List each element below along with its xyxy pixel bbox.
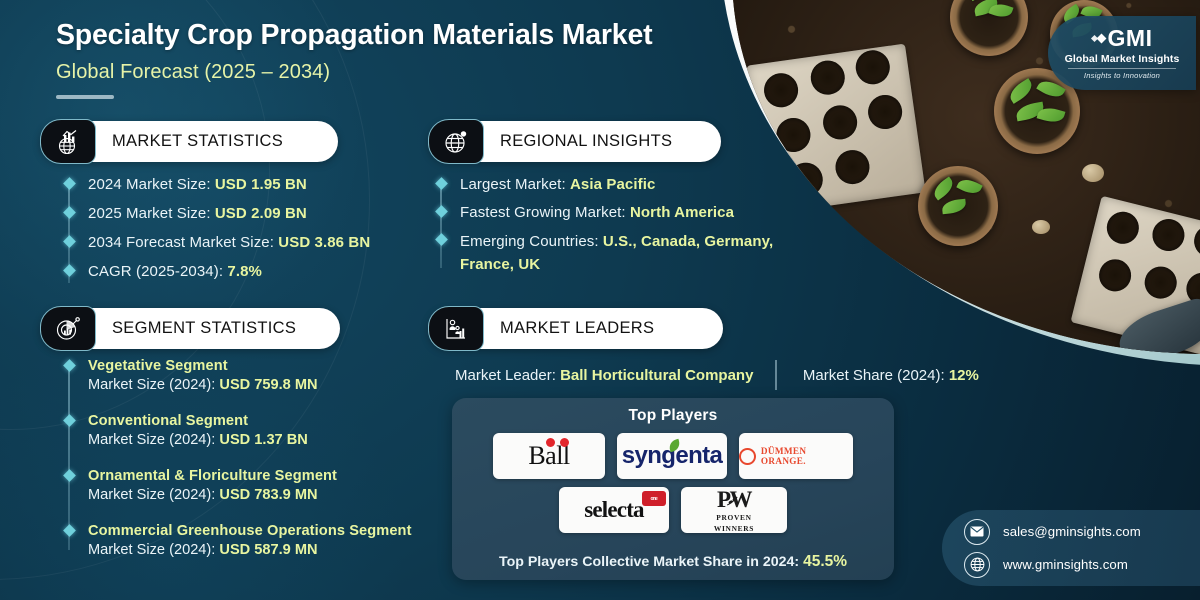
segment-name: Ornamental & Floriculture Segment (88, 468, 468, 484)
proven-winners-wordmark: PW PROVEN WINNERS (714, 488, 754, 532)
stat-value: Asia Pacific (570, 176, 655, 193)
pebble (1082, 164, 1104, 182)
title-block: Specialty Crop Propagation Materials Mar… (56, 20, 736, 99)
stat-row: 2025 Market Size: USD 2.09 BN (88, 204, 398, 233)
podium-icon (428, 306, 484, 351)
market-leader-value: Ball Horticultural Company (560, 367, 753, 384)
stat-value: USD 2.09 BN (215, 205, 307, 222)
globe-icon (964, 552, 990, 578)
stat-label: 2024 Market Size: (88, 176, 211, 193)
vertical-divider (775, 360, 777, 390)
ball-dot-icon (546, 438, 555, 447)
section-header-market-statistics: MARKET STATISTICS (40, 121, 338, 162)
timeline-connector (440, 181, 442, 268)
gmi-full-name: Global Market Insights (1065, 53, 1180, 65)
syngenta-wordmark: syngenta (622, 442, 723, 470)
collective-share-row: Top Players Collective Market Share in 2… (452, 553, 894, 571)
selecta-wordmark: selecta one (584, 497, 644, 523)
segment-item: Ornamental & Floriculture Segment Market… (88, 468, 468, 523)
infographic-canvas: GMI Global Market Insights Insights to I… (0, 0, 1200, 600)
stat-value: North America (630, 204, 734, 221)
segment-value-row: Market Size (2024): USD 587.9 MN (88, 542, 468, 558)
stat-label: Largest Market: (460, 176, 566, 193)
stat-label: 2034 Forecast Market Size: (88, 234, 274, 251)
segment-value-row: Market Size (2024): USD 783.9 MN (88, 487, 468, 503)
contact-email: sales@gminsights.com (1003, 524, 1141, 539)
market-leader-label: Market Leader: (455, 367, 556, 384)
contact-footer: sales@gminsights.com www.gminsights.com (942, 510, 1200, 586)
top-players-panel: Top Players Ball syngenta DÜMMEN ORANGE. (452, 398, 894, 580)
pie-chart-icon (40, 306, 96, 351)
globe-pin-icon (428, 119, 484, 164)
stat-row: 2034 Forecast Market Size: USD 3.86 BN (88, 233, 398, 262)
selecta-badge: one (642, 491, 666, 506)
segment-name: Commercial Greenhouse Operations Segment (88, 523, 468, 539)
market-leader-row: Market Leader: Ball Horticultural Compan… (455, 360, 1075, 390)
stat-value: 7.8% (227, 263, 262, 280)
market-leader-text: Market Leader: Ball Horticultural Compan… (455, 367, 753, 384)
pw-line1: PROVEN (714, 514, 754, 521)
section-title-market-statistics: MARKET STATISTICS (96, 121, 309, 162)
dummen-wordmark: DÜMMEN ORANGE. (739, 446, 853, 466)
stat-label: Emerging Countries: (460, 233, 599, 250)
page-title: Specialty Crop Propagation Materials Mar… (56, 20, 736, 52)
pw-initials: PW (714, 488, 754, 511)
gmi-logo: GMI Global Market Insights Insights to I… (1048, 16, 1196, 90)
market-share-label: Market Share (2024): (803, 367, 945, 384)
segment-value-label: Market Size (2024): (88, 542, 215, 558)
segment-value: USD 587.9 MN (219, 542, 317, 558)
gmi-tagline: Insights to Innovation (1084, 71, 1160, 80)
stat-row: Largest Market: Asia Pacific (460, 175, 800, 203)
segment-value: USD 1.37 BN (219, 432, 307, 448)
market-share-text: Market Share (2024): 12% (803, 367, 979, 384)
gmi-divider (1068, 68, 1176, 69)
logo-dummen-orange[interactable]: DÜMMEN ORANGE. (739, 433, 853, 479)
segment-statistics-list: Vegetative Segment Market Size (2024): U… (68, 358, 468, 558)
peat-pot (918, 166, 998, 246)
segment-value-label: Market Size (2024): (88, 377, 215, 393)
stat-value: USD 3.86 BN (278, 234, 370, 251)
title-underline (56, 95, 114, 99)
logo-proven-winners[interactable]: PW PROVEN WINNERS (681, 487, 787, 533)
segment-value-label: Market Size (2024): (88, 432, 215, 448)
globe-chart-icon (40, 119, 96, 164)
circle-icon (739, 448, 756, 465)
stat-label: CAGR (2025-2034): (88, 263, 223, 280)
segment-name: Vegetative Segment (88, 358, 468, 374)
stat-row: Emerging Countries: U.S., Canada, German… (460, 231, 790, 276)
section-header-regional-insights: REGIONAL INSIGHTS (428, 121, 721, 162)
segment-value: USD 759.8 MN (219, 377, 317, 393)
top-players-logo-row: selecta one PW PROVEN WINNERS (466, 487, 880, 533)
contact-email-row[interactable]: sales@gminsights.com (964, 519, 1200, 545)
section-header-market-leaders: MARKET LEADERS (428, 308, 723, 349)
segment-name: Conventional Segment (88, 413, 468, 429)
ball-dot-icon (560, 438, 569, 447)
gmi-diamond-icon (1092, 35, 1105, 42)
page-subtitle: Global Forecast (2025 – 2034) (56, 61, 736, 84)
section-header-segment-statistics: SEGMENT STATISTICS (40, 308, 340, 349)
ball-wordmark: Ball (528, 441, 569, 471)
section-title-market-leaders: MARKET LEADERS (484, 308, 680, 349)
gmi-initials: GMI (1108, 27, 1153, 50)
pw-line2: WINNERS (714, 525, 754, 532)
contact-website: www.gminsights.com (1003, 557, 1128, 572)
segment-item: Vegetative Segment Market Size (2024): U… (88, 358, 468, 413)
market-statistics-list: 2024 Market Size: USD 1.95 BN 2025 Marke… (68, 175, 398, 291)
selecta-logo-text: selecta (584, 497, 644, 522)
segment-item: Commercial Greenhouse Operations Segment… (88, 523, 468, 558)
market-share-value: 12% (949, 367, 979, 384)
collective-share-value: 45.5% (803, 553, 847, 570)
segment-value-row: Market Size (2024): USD 1.37 BN (88, 432, 468, 448)
timeline-connector (68, 364, 70, 550)
collective-share-label: Top Players Collective Market Share in 2… (499, 554, 799, 570)
logo-syngenta[interactable]: syngenta (617, 433, 727, 479)
dummen-logo-text: DÜMMEN ORANGE. (761, 446, 853, 466)
contact-website-row[interactable]: www.gminsights.com (964, 552, 1200, 578)
stat-row: Fastest Growing Market: North America (460, 203, 800, 231)
stat-label: 2025 Market Size: (88, 205, 211, 222)
stat-value: USD 1.95 BN (215, 176, 307, 193)
vine-icon (726, 496, 739, 506)
pebble (1032, 220, 1050, 234)
regional-insights-list: Largest Market: Asia Pacific Fastest Gro… (440, 175, 800, 276)
stat-label: Fastest Growing Market: (460, 204, 626, 221)
logo-selecta[interactable]: selecta one (559, 487, 669, 533)
segment-value: USD 783.9 MN (219, 487, 317, 503)
segment-value-label: Market Size (2024): (88, 487, 215, 503)
section-title-regional-insights: REGIONAL INSIGHTS (484, 121, 698, 162)
top-players-logo-row: Ball syngenta DÜMMEN ORANGE. (466, 433, 880, 479)
logo-ball[interactable]: Ball (493, 433, 605, 479)
top-players-title: Top Players (466, 407, 880, 425)
gmi-wordmark: GMI (1092, 27, 1153, 50)
segment-item: Conventional Segment Market Size (2024):… (88, 413, 468, 468)
stat-row: 2024 Market Size: USD 1.95 BN (88, 175, 398, 204)
stat-row: CAGR (2025-2034): 7.8% (88, 262, 398, 291)
envelope-icon (964, 519, 990, 545)
segment-value-row: Market Size (2024): USD 759.8 MN (88, 377, 468, 393)
section-title-segment-statistics: SEGMENT STATISTICS (96, 308, 322, 349)
